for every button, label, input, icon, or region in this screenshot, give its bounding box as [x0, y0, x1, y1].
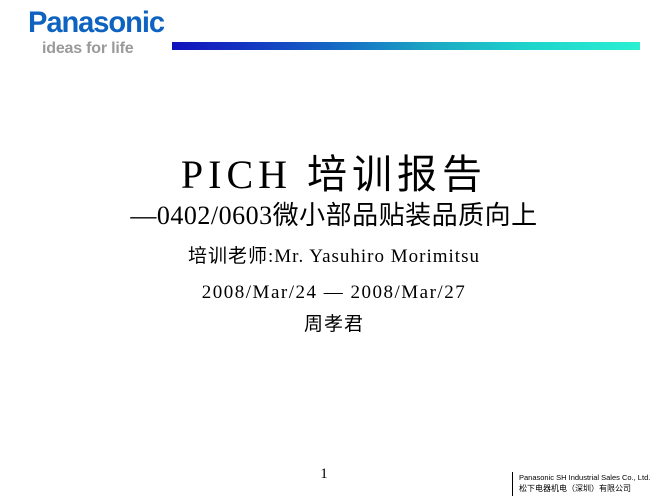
footer-company-name-cn: 松下电器机电（深圳）有限公司: [519, 483, 650, 495]
page-number: 1: [310, 466, 338, 483]
author-name: 周孝君: [0, 312, 668, 338]
date-range-line: 2008/Mar/24 — 2008/Mar/27: [0, 280, 668, 306]
panasonic-tagline: ideas for life: [42, 40, 188, 58]
title-block: PICH 培训报告 —0402/0603微小部品贴装品质向上 培训老师:Mr. …: [0, 152, 668, 338]
footer-company-block: Panasonic SH Industrial Sales Co., Ltd. …: [512, 472, 650, 496]
panasonic-wordmark: Panasonic: [28, 8, 183, 38]
footer-company-name-en: Panasonic SH Industrial Sales Co., Ltd.: [519, 472, 650, 483]
panasonic-logo: Panasonic ideas for life: [28, 8, 188, 58]
header-gradient-bar: [172, 42, 640, 50]
page-title: PICH 培训报告: [0, 152, 668, 198]
slide-header: Panasonic ideas for life: [0, 0, 668, 70]
instructor-line: 培训老师:Mr. Yasuhiro Morimitsu: [0, 244, 668, 270]
page-subtitle: —0402/0603微小部品贴装品质向上: [0, 200, 668, 232]
presentation-slide: Panasonic ideas for life PICH 培训报告 —0402…: [0, 0, 668, 500]
